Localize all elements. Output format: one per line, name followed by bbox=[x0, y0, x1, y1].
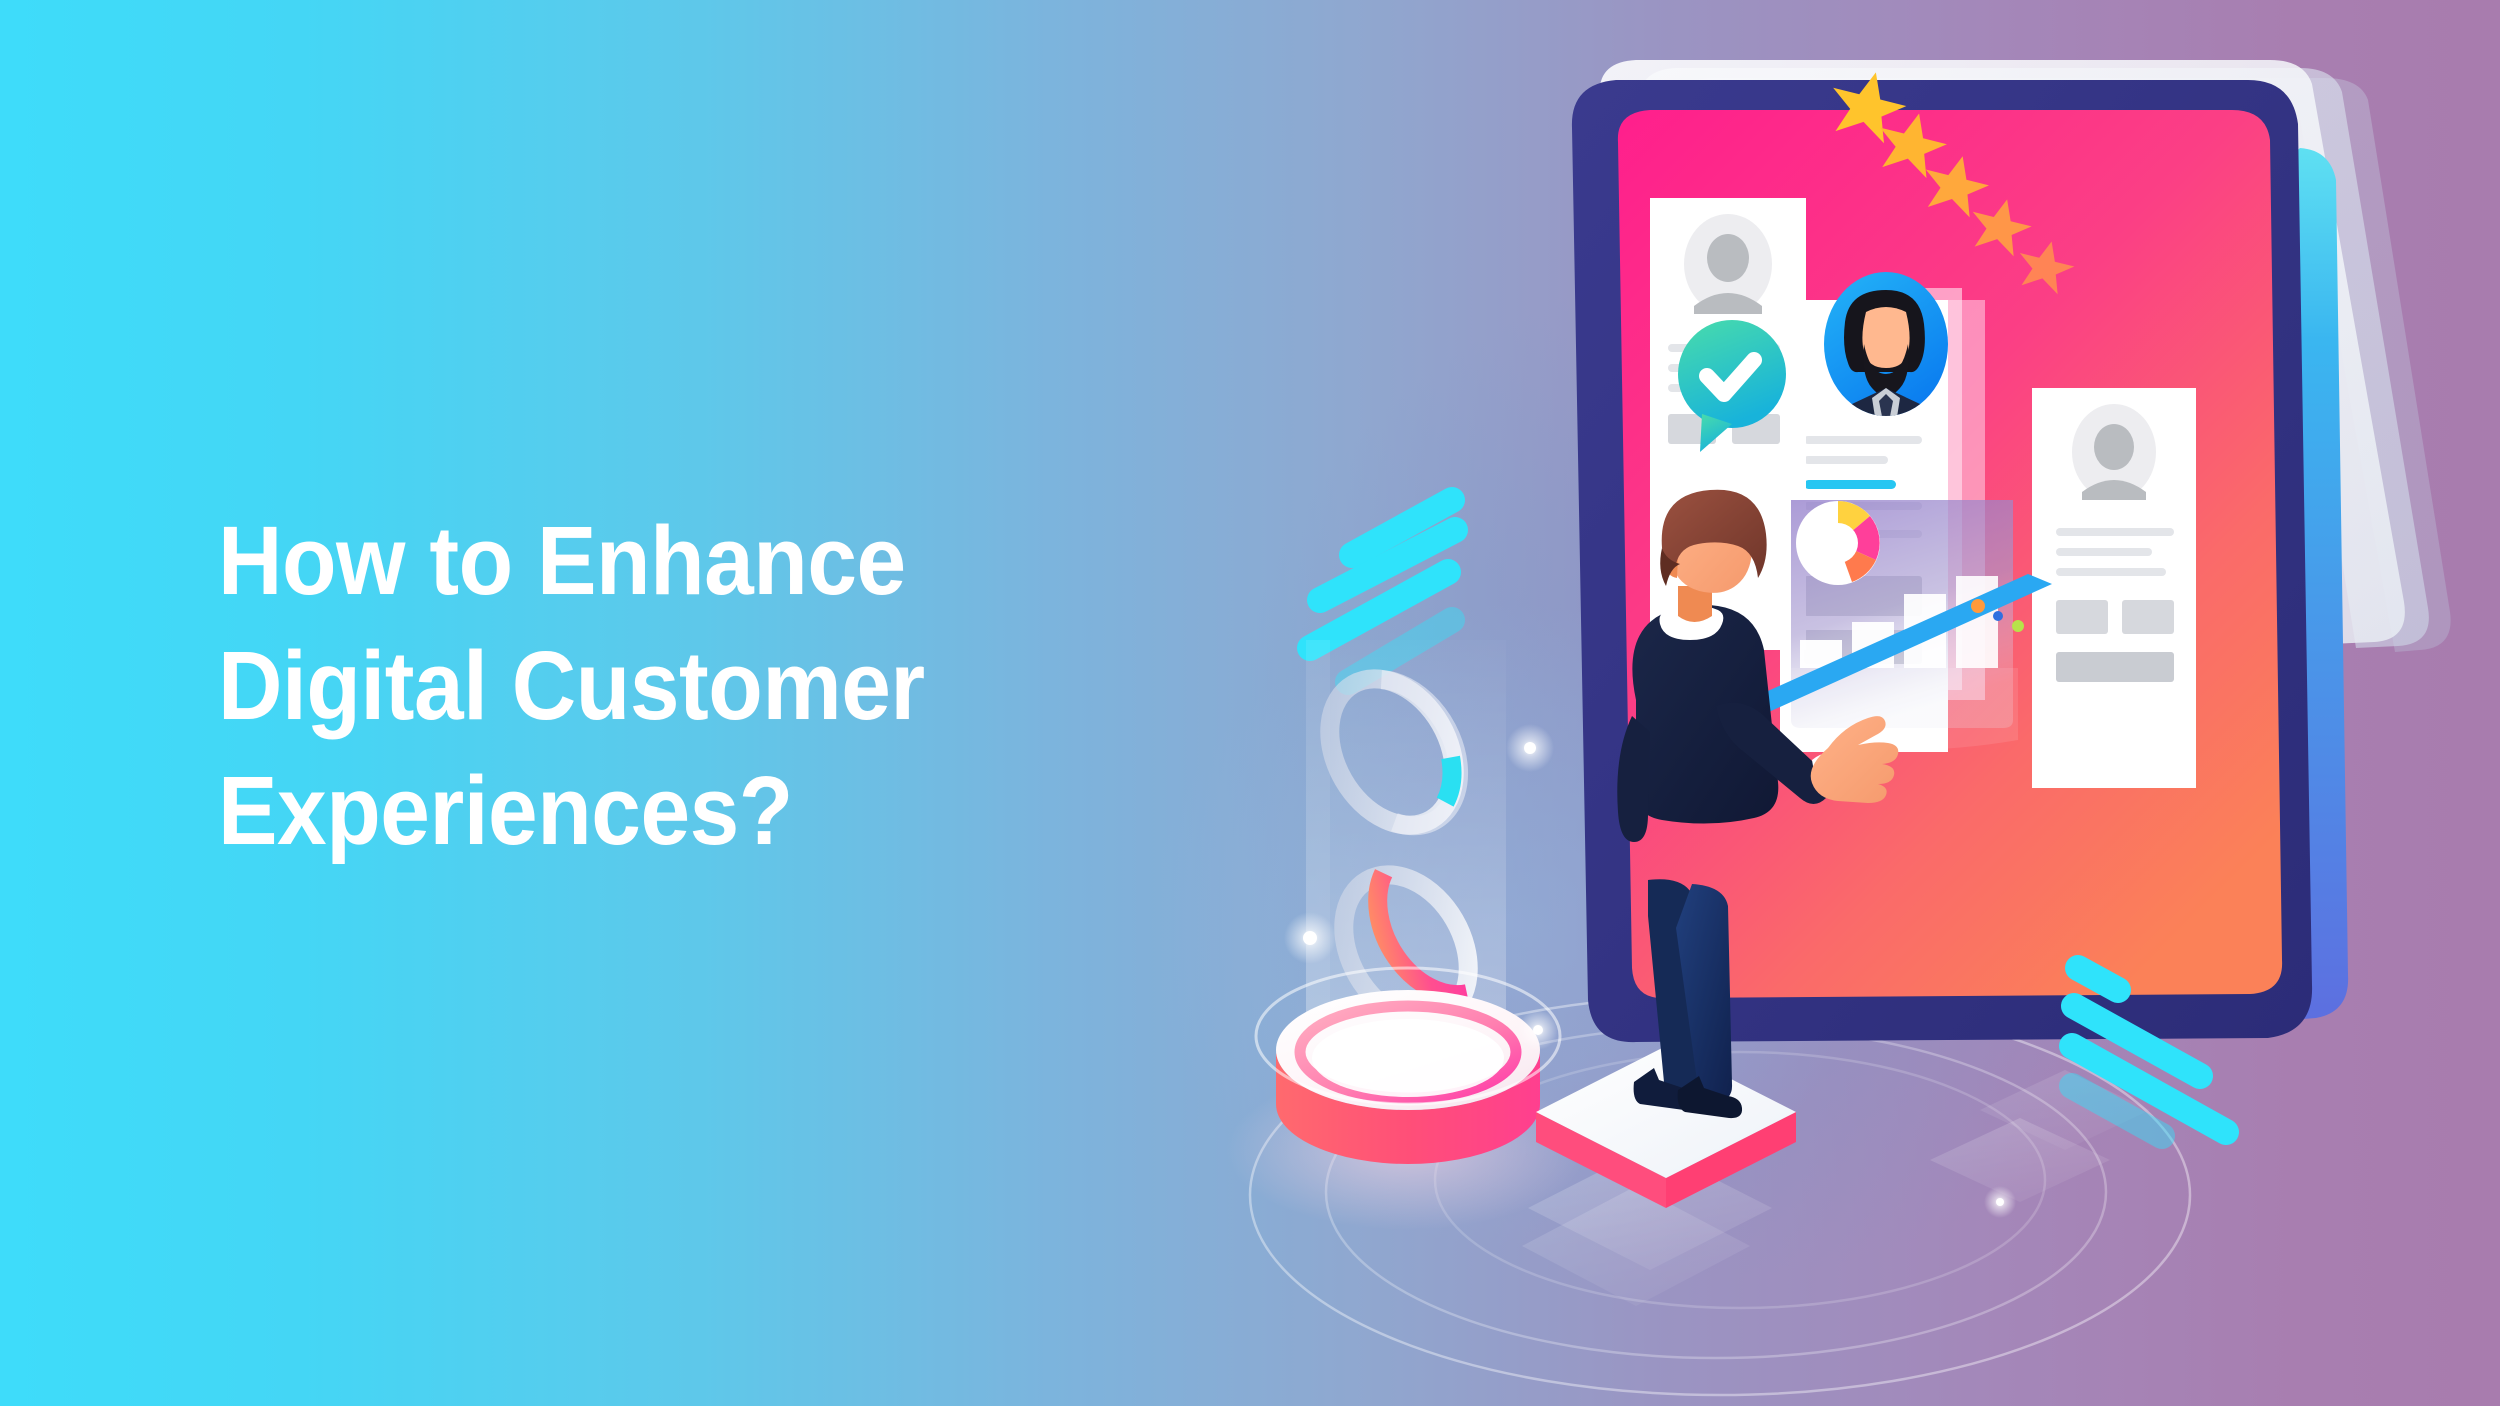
progress-dot-green bbox=[2012, 620, 2024, 632]
progress-dot-blue bbox=[1993, 611, 2003, 621]
card-accent-line bbox=[1804, 480, 1896, 489]
profile-card-right[interactable] bbox=[2032, 388, 2196, 788]
analytics-panel bbox=[1790, 500, 2018, 750]
hero-illustration bbox=[0, 0, 2500, 1406]
donut-chart bbox=[1796, 501, 1880, 585]
glass-cylinder-pedestal bbox=[1256, 968, 1560, 1164]
banner-stage: How to Enhance Digital Customer Experien… bbox=[0, 0, 2500, 1406]
progress-dot-orange bbox=[1971, 599, 1985, 613]
ghost-plates-right bbox=[1930, 1070, 2150, 1202]
